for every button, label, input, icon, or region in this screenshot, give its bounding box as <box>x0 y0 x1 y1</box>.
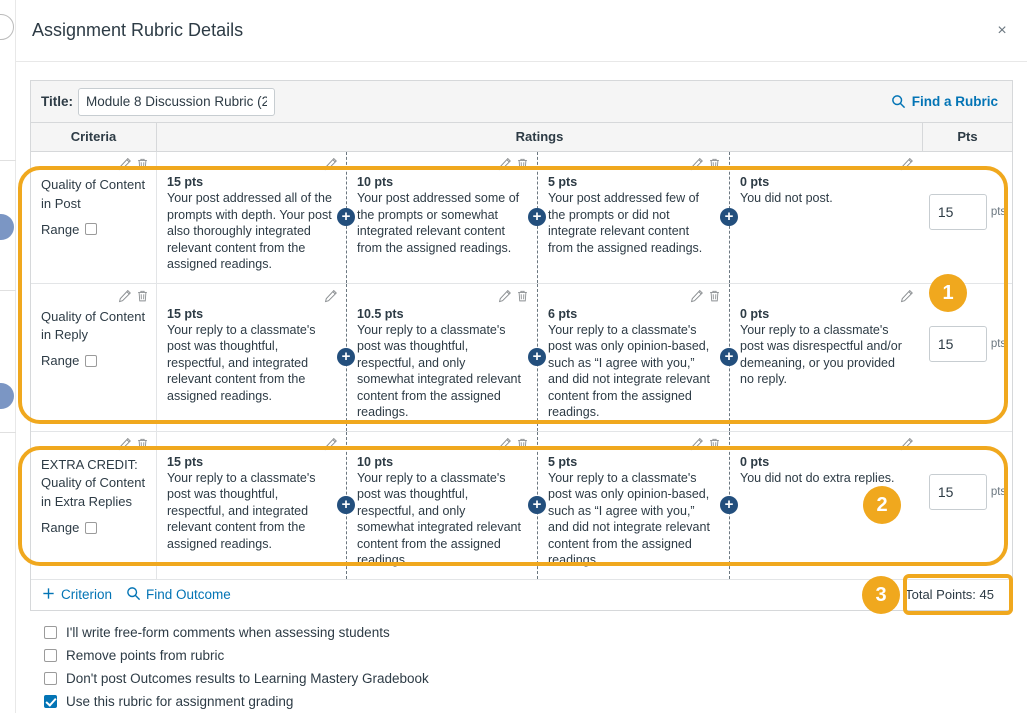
criterion-row: Quality of Content in ReplyRange15 ptsYo… <box>31 284 1012 432</box>
rating-cell: 10 ptsYour post addressed some of the pr… <box>347 152 538 283</box>
criterion-range-label: Range <box>41 520 79 535</box>
rating-points: 10 pts <box>357 455 523 469</box>
page-title: Assignment Rubric Details <box>32 20 985 41</box>
rating-cell: 0 ptsYou did not post. <box>730 152 922 283</box>
add-criterion-label: Criterion <box>61 587 112 602</box>
pencil-icon[interactable] <box>118 157 132 171</box>
rating-tools <box>690 437 721 451</box>
trash-icon[interactable] <box>516 437 529 451</box>
rating-points: 5 pts <box>548 455 715 469</box>
option-label: Don't post Outcomes results to Learning … <box>66 671 429 686</box>
ratings-cell: 15 ptsYour reply to a classmate's post w… <box>157 432 923 579</box>
pencil-icon[interactable] <box>498 437 512 451</box>
trash-icon[interactable] <box>516 289 529 303</box>
plus-circle-icon[interactable]: + <box>337 496 355 514</box>
find-a-rubric-link[interactable]: Find a Rubric <box>891 94 1002 109</box>
criterion-name: Quality of Content in Post <box>41 176 147 214</box>
rating-points: 5 pts <box>548 175 715 189</box>
rating-cell: 5 ptsYour reply to a classmate's post wa… <box>538 432 730 579</box>
column-header-pts: Pts <box>923 123 1012 152</box>
rating-description: Your post addressed some of the prompts … <box>357 190 523 256</box>
rating-tools <box>900 289 914 303</box>
rating-description: Your reply to a classmate's post was tho… <box>167 470 332 553</box>
rating-cell: 0 ptsYour reply to a classmate's post wa… <box>730 284 922 431</box>
pencil-icon[interactable] <box>498 157 512 171</box>
trash-icon[interactable] <box>708 289 721 303</box>
find-outcome-button[interactable]: Find Outcome <box>126 586 231 604</box>
pencil-icon[interactable] <box>900 437 914 451</box>
rating-description: You did not post. <box>740 190 908 207</box>
criterion-tools <box>118 437 149 451</box>
add-criterion-button[interactable]: Criterion <box>41 586 112 604</box>
pencil-icon[interactable] <box>498 289 512 303</box>
plus-circle-icon[interactable]: + <box>528 208 546 226</box>
ratings-cell: 15 ptsYour reply to a classmate's post w… <box>157 284 923 431</box>
screen: Assignment Rubric Details × Title: Find <box>0 0 1027 713</box>
rubric-option[interactable]: Remove points from rubric <box>44 644 1013 667</box>
modal-body: Title: Find a Rubric Criteria Rati <box>16 62 1027 713</box>
rating-description: Your reply to a classmate's post was dis… <box>740 322 908 388</box>
search-icon <box>126 586 141 604</box>
rating-description: Your reply to a classmate's post was tho… <box>167 322 332 405</box>
rating-description: Your post addressed all of the prompts w… <box>167 190 332 273</box>
trash-icon[interactable] <box>516 157 529 171</box>
criterion-tools <box>118 157 149 171</box>
criterion-cell: Quality of Content in ReplyRange <box>31 284 157 431</box>
rating-description: Your reply to a classmate's post was tho… <box>357 470 523 569</box>
criterion-cell: Quality of Content in PostRange <box>31 152 157 283</box>
pencil-icon[interactable] <box>324 437 338 451</box>
rating-points: 10.5 pts <box>357 307 523 321</box>
rating-tools <box>324 437 338 451</box>
rating-cell: 15 ptsYour reply to a classmate's post w… <box>157 284 347 431</box>
criterion-name: Quality of Content in Reply <box>41 308 147 346</box>
criterion-range-checkbox[interactable] <box>85 355 97 367</box>
criterion-points-input[interactable] <box>929 194 987 230</box>
option-label: Use this rubric for assignment grading <box>66 694 293 709</box>
plus-circle-icon[interactable]: + <box>337 348 355 366</box>
plus-circle-icon[interactable]: + <box>720 496 738 514</box>
annotation-number-3: 3 <box>862 576 900 614</box>
rating-tools <box>900 157 914 171</box>
rating-points: 0 pts <box>740 455 908 469</box>
criterion-points-input[interactable] <box>929 474 987 510</box>
option-label: I'll write free-form comments when asses… <box>66 625 390 640</box>
plus-icon <box>41 586 56 604</box>
annotation-number-1: 1 <box>929 274 967 312</box>
rating-points: 15 pts <box>167 307 332 321</box>
criterion-points-cell: pts <box>923 152 1012 283</box>
trash-icon[interactable] <box>708 437 721 451</box>
criterion-range-label: Range <box>41 222 79 237</box>
rubric-title-input[interactable] <box>78 88 275 116</box>
rating-cell: 15 ptsYour post addressed all of the pro… <box>157 152 347 283</box>
plus-circle-icon[interactable]: + <box>720 348 738 366</box>
close-icon[interactable]: × <box>985 14 1019 48</box>
criterion-name: EXTRA CREDIT: Quality of Content in Extr… <box>41 456 147 513</box>
pencil-icon[interactable] <box>690 437 704 451</box>
plus-circle-icon[interactable]: + <box>528 496 546 514</box>
criterion-points-unit: pts <box>991 486 1006 498</box>
pencil-icon[interactable] <box>690 157 704 171</box>
modal-header: Assignment Rubric Details × <box>16 0 1027 62</box>
criterion-range: Range <box>41 222 147 237</box>
criterion-range: Range <box>41 520 147 535</box>
rubric-option[interactable]: I'll write free-form comments when asses… <box>44 621 1013 644</box>
option-checkbox[interactable] <box>44 672 57 685</box>
background-page-strip <box>0 0 16 713</box>
trash-icon[interactable] <box>136 437 149 451</box>
rating-cell: 6 ptsYour reply to a classmate's post wa… <box>538 284 730 431</box>
rubric-column-headers: Criteria Ratings Pts <box>31 123 1012 152</box>
rating-cell: 15 ptsYour reply to a classmate's post w… <box>157 432 347 579</box>
background-avatar-1 <box>0 14 14 40</box>
pencil-icon[interactable] <box>900 289 914 303</box>
rating-description: Your reply to a classmate's post was tho… <box>357 322 523 421</box>
trash-icon[interactable] <box>708 157 721 171</box>
pencil-icon[interactable] <box>118 289 132 303</box>
criterion-range-checkbox[interactable] <box>85 522 97 534</box>
criterion-row: Quality of Content in PostRange15 ptsYou… <box>31 152 1012 284</box>
rating-tools <box>900 437 914 451</box>
rating-points: 0 pts <box>740 175 908 189</box>
plus-circle-icon[interactable]: + <box>720 208 738 226</box>
rating-description: Your reply to a classmate's post was onl… <box>548 322 715 421</box>
criterion-points-unit: pts <box>991 338 1006 350</box>
criterion-range-checkbox[interactable] <box>85 223 97 235</box>
rubric-option[interactable]: Use this rubric for assignment grading <box>44 690 1013 713</box>
option-checkbox[interactable] <box>44 626 57 639</box>
criterion-points-cell: pts <box>923 432 1012 579</box>
criterion-range: Range <box>41 353 147 368</box>
trash-icon[interactable] <box>136 289 149 303</box>
background-avatar-3 <box>0 383 14 409</box>
option-label: Remove points from rubric <box>66 648 224 663</box>
criterion-range-label: Range <box>41 353 79 368</box>
rubric-options-list: I'll write free-form comments when asses… <box>30 611 1013 713</box>
rating-cell: 5 ptsYour post addressed few of the prom… <box>538 152 730 283</box>
rating-points: 15 pts <box>167 175 332 189</box>
pencil-icon[interactable] <box>118 437 132 451</box>
ratings-cell: 15 ptsYour post addressed all of the pro… <box>157 152 923 283</box>
pencil-icon[interactable] <box>324 157 338 171</box>
column-header-ratings: Ratings <box>157 123 923 152</box>
criteria-rows: Quality of Content in PostRange15 ptsYou… <box>31 152 1012 580</box>
rating-points: 10 pts <box>357 175 523 189</box>
criterion-points-input[interactable] <box>929 326 987 362</box>
criterion-cell: EXTRA CREDIT: Quality of Content in Extr… <box>31 432 157 579</box>
rating-description: Your post addressed few of the prompts o… <box>548 190 715 256</box>
plus-circle-icon[interactable]: + <box>337 208 355 226</box>
pencil-icon[interactable] <box>324 289 338 303</box>
option-checkbox[interactable] <box>44 649 57 662</box>
rating-points: 6 pts <box>548 307 715 321</box>
total-points-label: Total Points: 45 <box>897 582 1002 607</box>
rubric-option[interactable]: Don't post Outcomes results to Learning … <box>44 667 1013 690</box>
rating-points: 0 pts <box>740 307 908 321</box>
rubric-title-row: Title: Find a Rubric <box>31 81 1012 123</box>
rating-tools <box>324 289 338 303</box>
rating-description: You did not do extra replies. <box>740 470 908 487</box>
rating-tools <box>324 157 338 171</box>
rating-tools <box>690 157 721 171</box>
rating-tools <box>498 157 529 171</box>
annotation-number-2: 2 <box>863 486 901 524</box>
option-checkbox[interactable] <box>44 695 57 708</box>
search-icon <box>891 94 906 109</box>
trash-icon[interactable] <box>136 157 149 171</box>
background-avatar-2 <box>0 214 14 240</box>
rating-description: Your reply to a classmate's post was onl… <box>548 470 715 569</box>
find-outcome-label: Find Outcome <box>146 587 231 602</box>
rating-cell: 10 ptsYour reply to a classmate's post w… <box>347 432 538 579</box>
find-a-rubric-label: Find a Rubric <box>912 94 998 109</box>
plus-circle-icon[interactable]: + <box>528 348 546 366</box>
rubric-title-label: Title: <box>41 94 73 109</box>
pencil-icon[interactable] <box>900 157 914 171</box>
criterion-points-unit: pts <box>991 206 1006 218</box>
column-header-criteria: Criteria <box>31 123 157 152</box>
criterion-tools <box>118 289 149 303</box>
rating-points: 15 pts <box>167 455 332 469</box>
rating-cell: 10.5 ptsYour reply to a classmate's post… <box>347 284 538 431</box>
rating-tools <box>498 289 529 303</box>
pencil-icon[interactable] <box>690 289 704 303</box>
rating-tools <box>498 437 529 451</box>
rating-tools <box>690 289 721 303</box>
